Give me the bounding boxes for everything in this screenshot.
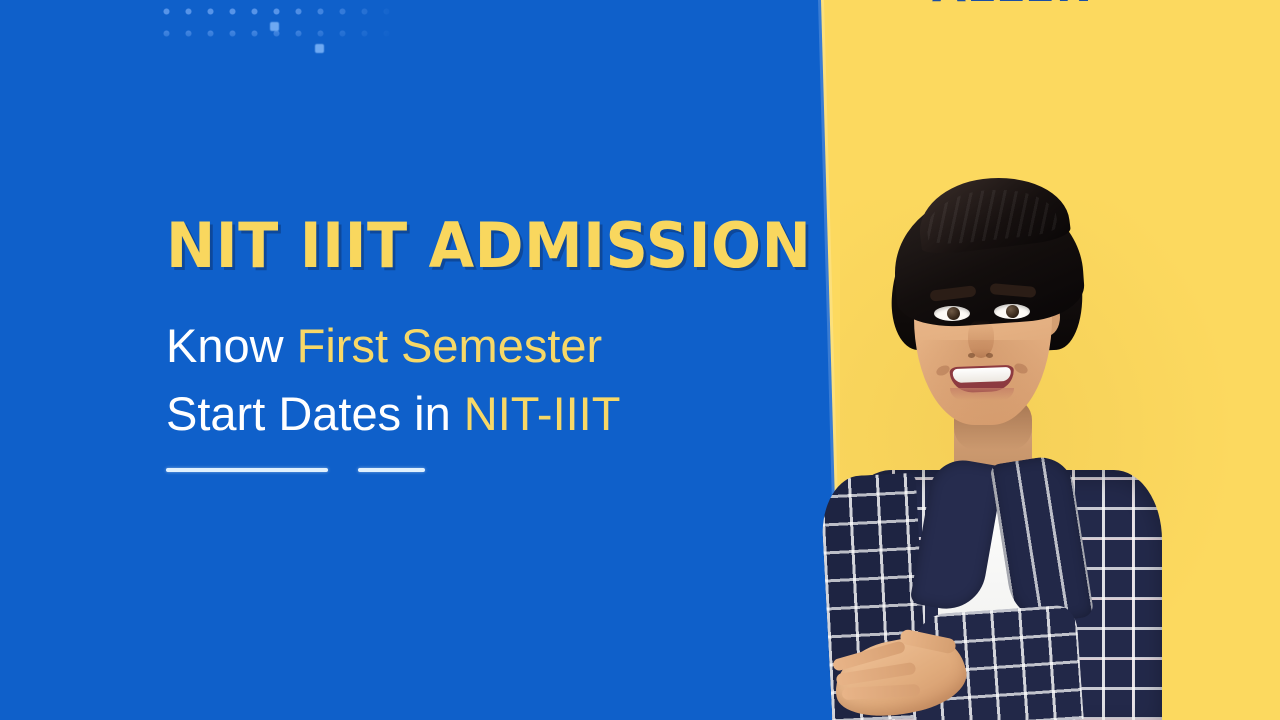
subtitle-line-1-highlight: First Semester (297, 319, 603, 372)
allen-logo[interactable]: ALLEN (932, 0, 1088, 12)
student-photo (826, 170, 1246, 720)
dot-accent-icon (270, 22, 279, 31)
dot-accent-icon (315, 44, 324, 53)
page-title: NIT IIIT ADMISSION (166, 211, 811, 281)
allen-logo-wordmark: ALLEN (932, 0, 1088, 12)
divider-dash-long (166, 468, 328, 472)
page-subtitle: Know First Semester Start Dates in NIT-I… (166, 312, 620, 448)
pupil-left (947, 307, 960, 320)
subtitle-line-2-highlight: NIT-IIIT (464, 387, 621, 440)
divider-dash-short (358, 468, 425, 472)
nostril-left (968, 353, 975, 358)
nostril-right (986, 353, 993, 358)
subtitle-line-1: Know First Semester (166, 312, 620, 380)
lower-lip-shadow (950, 388, 1014, 400)
dot-grid-decoration (163, 0, 398, 48)
subtitle-line-2: Start Dates in NIT-IIIT (166, 380, 620, 448)
subtitle-line-2-plain: Start Dates in (166, 387, 464, 440)
promo-banner: ALLEN NIT IIIT ADMISSION Know First Seme… (0, 0, 1280, 720)
teeth (953, 367, 1011, 383)
subtitle-line-1-plain: Know (166, 319, 297, 372)
pupil-right (1006, 305, 1019, 318)
